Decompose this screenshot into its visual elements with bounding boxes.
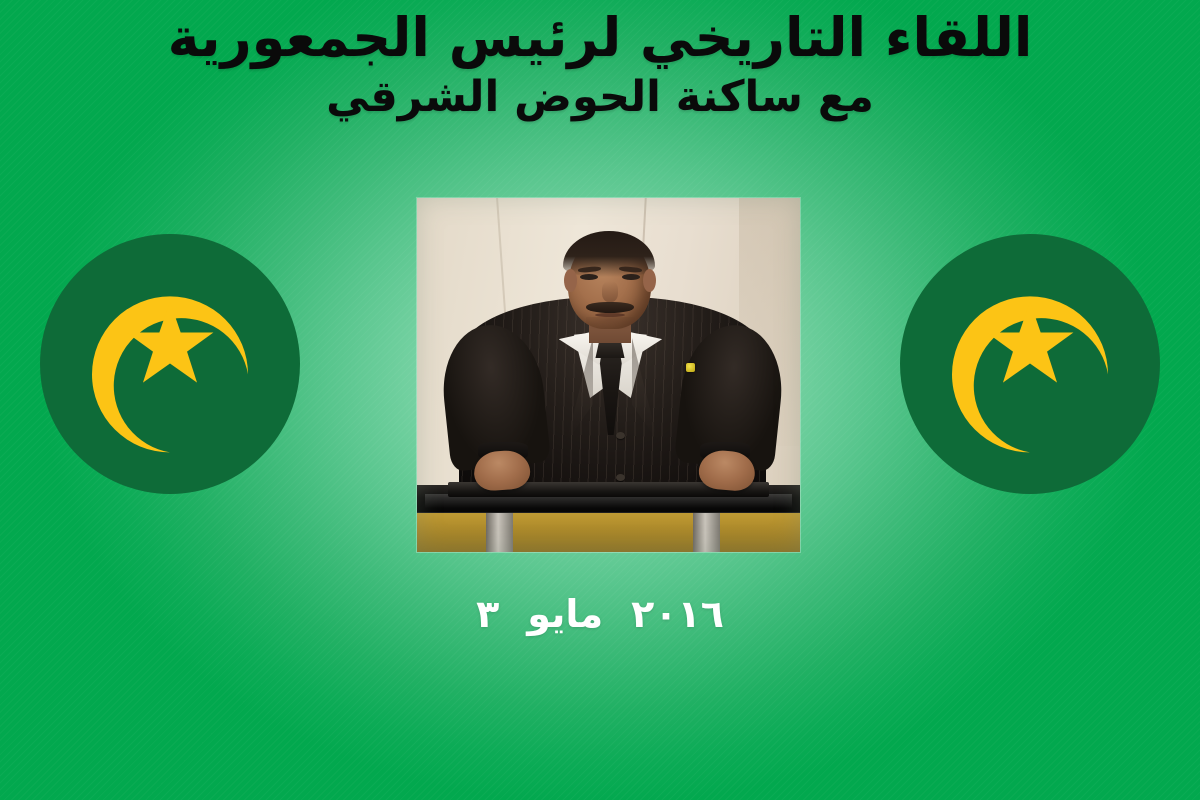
subject-chin-shadow: [586, 317, 636, 329]
mauritania-flag-emblem-left-icon: [40, 234, 300, 494]
mauritania-flag-emblem-right-icon: [900, 234, 1160, 494]
lapel-pin-icon: [686, 363, 695, 372]
headline-line-1: اللقاء التاريخي لرئيس الجمعورية: [0, 0, 1200, 68]
poster-canvas: اللقاء التاريخي لرئيس الجمعورية مع ساكنة…: [0, 0, 1200, 800]
event-date-month: مايو: [527, 592, 603, 636]
president-portrait-photo: [417, 198, 800, 552]
subject-ear-left: [564, 269, 577, 292]
photo-scene: [417, 198, 800, 552]
subject-mustache: [586, 302, 634, 313]
suit-button-upper: [616, 432, 625, 439]
event-date: ٢٠١٦مايو٣: [0, 592, 1200, 636]
event-date-year: ٢٠١٦: [631, 592, 724, 636]
subject-nose: [602, 281, 618, 302]
subject-hand-left: [473, 449, 531, 492]
page-title: اللقاء التاريخي لرئيس الجمعورية مع ساكنة…: [0, 0, 1200, 123]
podium-canister-right: [693, 510, 720, 552]
event-date-day: ٣: [476, 592, 499, 636]
subject-ear-right: [643, 269, 656, 292]
podium-canister-left: [486, 510, 513, 552]
headline-line-2: مع ساكنة الحوض الشرقي: [0, 68, 1200, 123]
